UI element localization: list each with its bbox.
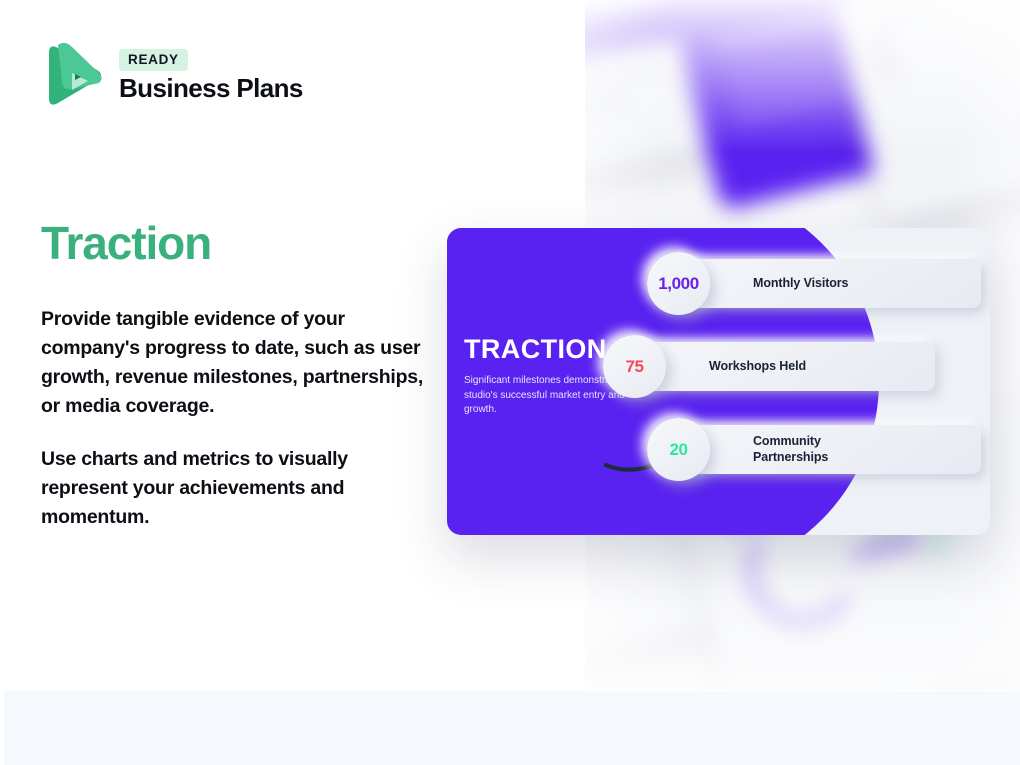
bottom-band [4,691,1020,765]
body-copy: Provide tangible evidence of your compan… [41,305,431,532]
stat-row[interactable]: Workshops Held 75 [645,335,990,398]
background-slide-thumb [833,0,1020,221]
brand-lockup: READY Business Plans [41,39,303,113]
stat-value-circle: 20 [647,418,710,481]
stat-row[interactable]: Monthly Visitors 1,000 [645,252,990,315]
stat-label: Community Partnerships [753,434,865,465]
body-paragraph-2: Use charts and metrics to visually repre… [41,445,431,532]
brand-text-block: READY Business Plans [119,49,303,103]
stat-bar: Monthly Visitors [677,259,981,308]
slide-preview-page: READY Business Plans Traction Provide ta… [0,0,1020,765]
brand-name: Business Plans [119,74,303,103]
page-title: Traction [41,216,211,270]
stat-value-circle: 1,000 [647,252,710,315]
stat-row[interactable]: Community Partnerships 20 [645,418,990,481]
ready-badge: READY [119,49,188,71]
stat-bar: Community Partnerships [677,425,981,474]
body-paragraph-1: Provide tangible evidence of your compan… [41,305,431,421]
traction-slide-card[interactable]: TRACTION Significant milestones demonstr… [447,228,990,535]
play-triangle-logo-icon [41,39,103,113]
stat-bar: Workshops Held [633,342,935,391]
stat-label: Workshops Held [709,359,806,374]
stat-label: Monthly Visitors [753,276,848,291]
stats-list: Monthly Visitors 1,000 Workshops Held 75… [645,252,990,481]
stat-value-circle: 75 [603,335,666,398]
